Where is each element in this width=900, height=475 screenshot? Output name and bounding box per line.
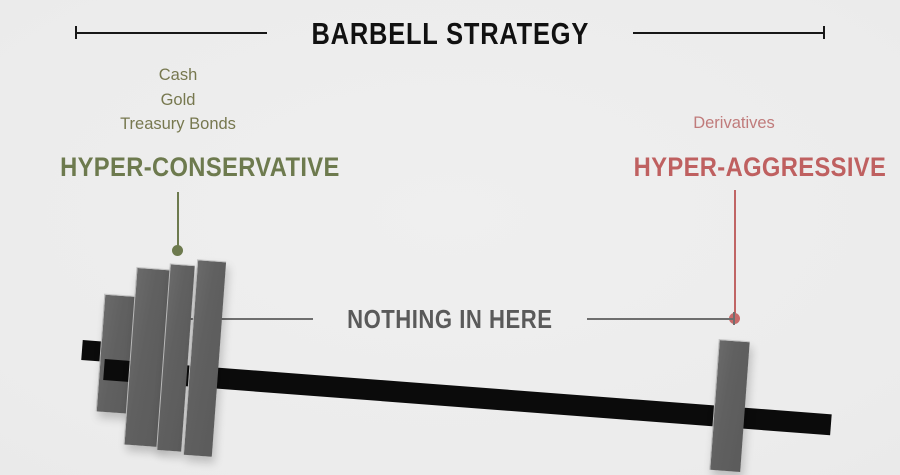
- barbell-illustration: [0, 0, 900, 475]
- infographic-canvas: BARBELL STRATEGY Cash Gold Treasury Bond…: [0, 0, 900, 475]
- barbell-plate-right-1: [709, 339, 750, 472]
